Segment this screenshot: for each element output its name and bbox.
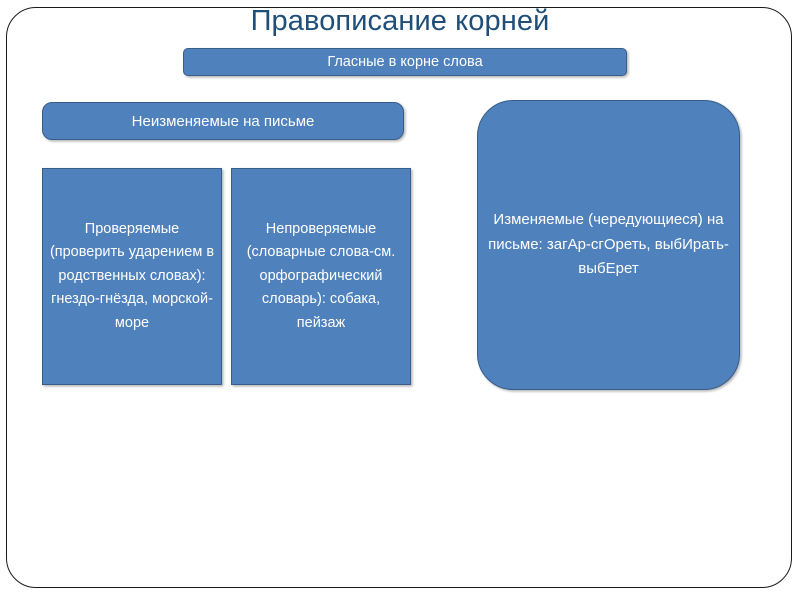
box-checkable-vowels[interactable]: Проверяемые (проверить ударением в родст… — [42, 168, 222, 385]
banner-unchangeable-in-writing-label: Неизменяемые на письме — [43, 112, 403, 131]
banner-unchangeable-in-writing[interactable]: Неизменяемые на письме — [42, 102, 404, 140]
banner-vowels-in-root[interactable]: Гласные в корне слова — [183, 48, 627, 76]
box-alternating-vowels-label: Изменяемые (чередующиеся) на письме: заг… — [478, 208, 739, 282]
slide-canvas: Правописание корней Гласные в корне слов… — [0, 0, 800, 600]
box-uncheckable-vowels-label: Непроверяемые (словарные слова-см. орфог… — [232, 218, 410, 336]
banner-vowels-in-root-label: Гласные в корне слова — [184, 53, 626, 71]
page-title: Правописание корней — [0, 4, 800, 38]
box-uncheckable-vowels[interactable]: Непроверяемые (словарные слова-см. орфог… — [231, 168, 411, 385]
box-alternating-vowels[interactable]: Изменяемые (чередующиеся) на письме: заг… — [477, 100, 740, 390]
box-checkable-vowels-label: Проверяемые (проверить ударением в родст… — [43, 218, 221, 336]
